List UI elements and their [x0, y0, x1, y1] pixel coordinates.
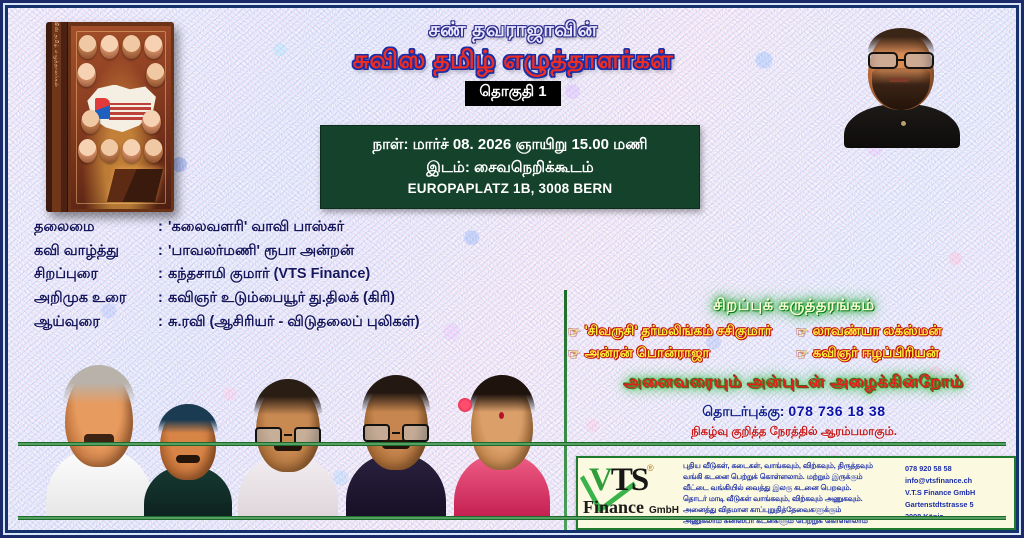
poster-root: சுவிஸ் தமிழ் எழுத்தாளர்கள் சண் தவராஜாவின…	[0, 0, 1024, 538]
frame-outer	[0, 0, 1024, 538]
